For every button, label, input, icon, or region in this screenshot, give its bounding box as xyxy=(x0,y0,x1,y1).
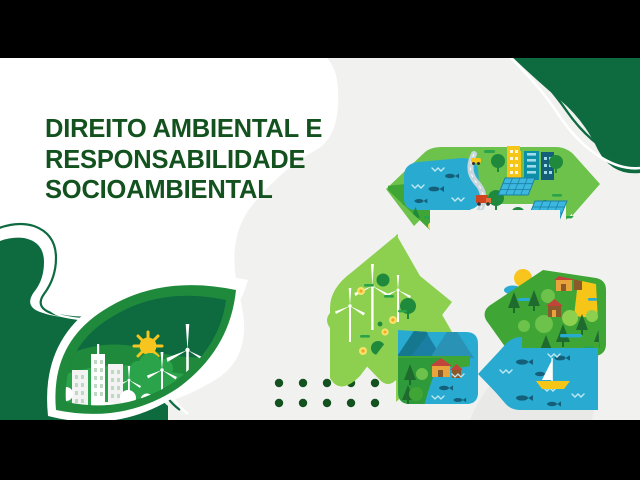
slide-canvas: DIREITO AMBIENTAL E RESPONSABILIDADE SOC… xyxy=(0,58,640,420)
page-title: DIREITO AMBIENTAL E RESPONSABILIDADE SOC… xyxy=(45,114,375,206)
video-thumbnail-stage: DIREITO AMBIENTAL E RESPONSABILIDADE SOC… xyxy=(0,0,640,480)
top-arrow xyxy=(386,136,600,242)
city-buildings-top xyxy=(507,136,554,180)
flowers-left xyxy=(417,222,449,234)
title-line-3: SOCIOAMBIENTAL xyxy=(45,175,375,206)
left-arrow xyxy=(320,228,486,420)
letterbox-bar-bottom xyxy=(0,420,640,480)
title-line-1: DIREITO AMBIENTAL E xyxy=(45,114,375,145)
title-line-2: RESPONSABILIDADE xyxy=(45,145,375,176)
three-arrow-recycle-landscape xyxy=(0,58,640,420)
letterbox-bar-top xyxy=(0,0,640,58)
